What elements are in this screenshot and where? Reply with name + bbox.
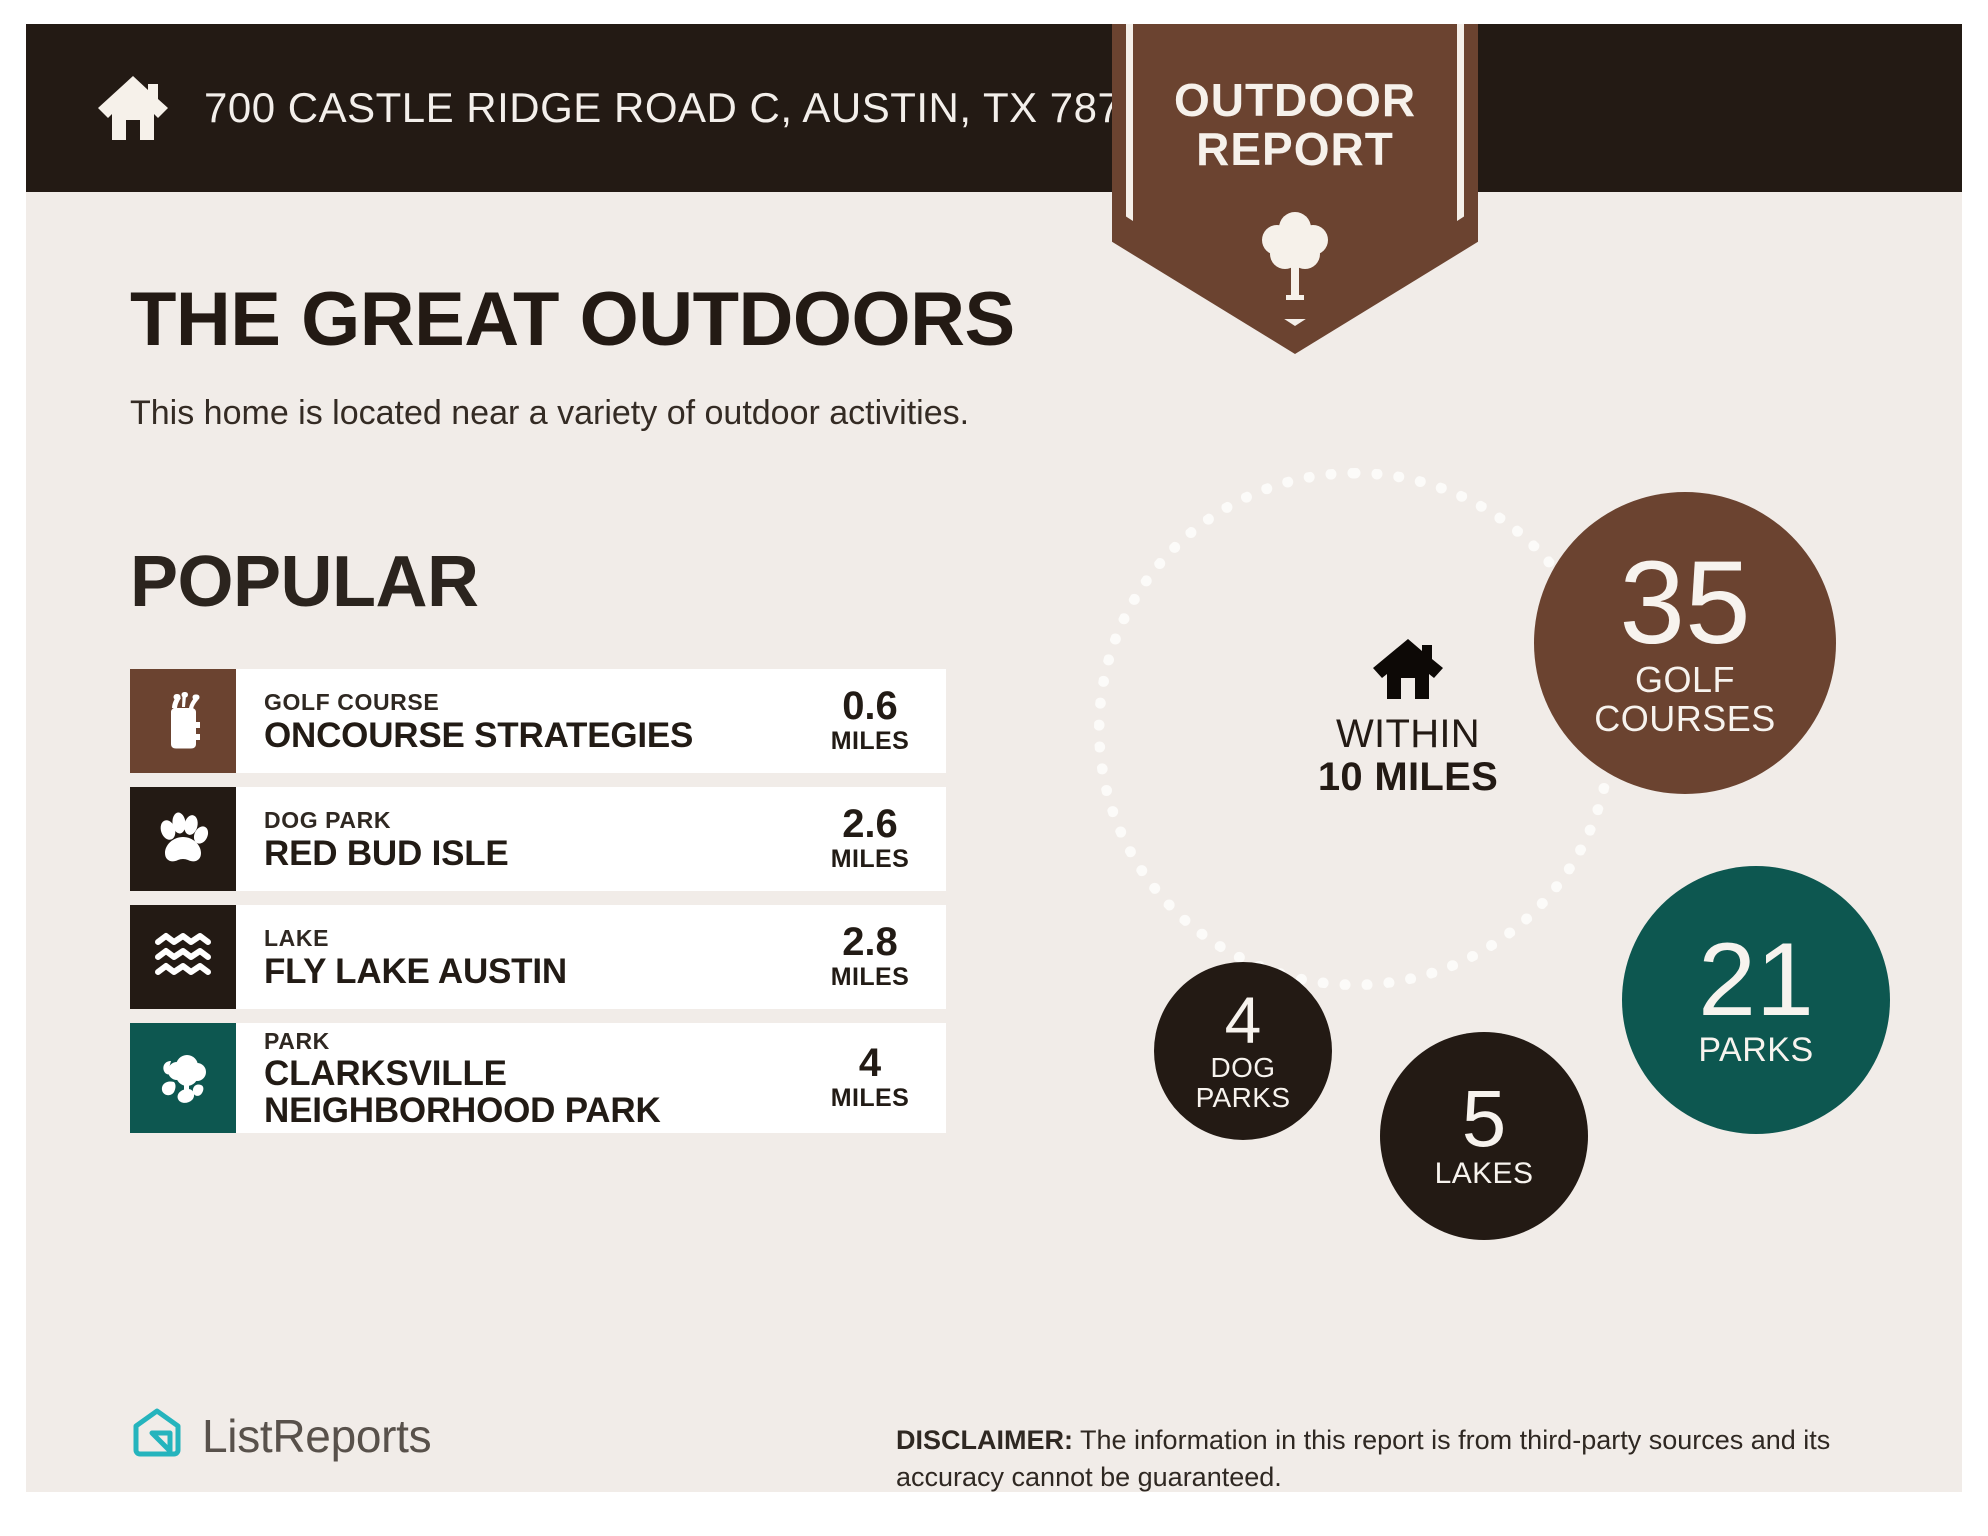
- paw-print-icon: [130, 787, 236, 891]
- outdoor-report-page: 700 CASTLE RIDGE ROAD C, AUSTIN, TX 7874…: [0, 0, 1988, 1536]
- stat-label-line1: DOG: [1211, 1053, 1276, 1083]
- list-item-text: DOG PARK RED BUD ISLE: [264, 806, 509, 872]
- stat-value: 4: [1225, 989, 1262, 1052]
- within-line1: WITHIN: [1278, 713, 1538, 756]
- stat-label-line2: PARKS: [1196, 1083, 1291, 1113]
- stat-label-line1: GOLF: [1635, 661, 1735, 700]
- section-title-popular: POPULAR: [130, 546, 479, 618]
- home-icon: [1278, 636, 1538, 707]
- stat-label-line2: COURSES: [1594, 700, 1776, 739]
- disclaimer: DISCLAIMER: The information in this repo…: [896, 1422, 1916, 1492]
- list-item-category: LAKE: [264, 924, 567, 953]
- stat-label-line1: LAKES: [1435, 1158, 1534, 1190]
- page-title: THE GREAT OUTDOORS: [130, 282, 1015, 358]
- distance-value: 2.8: [818, 922, 922, 963]
- distance-value: 2.6: [818, 804, 922, 845]
- list-item[interactable]: PARK CLARKSVILLE NEIGHBORHOOD PARK 4 MIL…: [130, 1023, 946, 1133]
- list-item-text: LAKE FLY LAKE AUSTIN: [264, 924, 567, 990]
- popular-list: GOLF COURSE ONCOURSE STRATEGIES 0.6 MILE…: [130, 669, 946, 1147]
- list-item-category: DOG PARK: [264, 806, 509, 835]
- golf-bag-icon: [130, 669, 236, 773]
- list-item-body: DOG PARK RED BUD ISLE 2.6 MILES: [236, 787, 946, 891]
- property-address: 700 CASTLE RIDGE ROAD C, AUSTIN, TX 7874…: [204, 84, 1169, 132]
- distance-value: 4: [818, 1043, 922, 1084]
- report-card: 700 CASTLE RIDGE ROAD C, AUSTIN, TX 7874…: [26, 24, 1962, 1492]
- list-item-body: LAKE FLY LAKE AUSTIN 2.8 MILES: [236, 905, 946, 1009]
- badge-title: OUTDOOR REPORT: [1112, 76, 1478, 174]
- list-item-text: GOLF COURSE ONCOURSE STRATEGIES: [264, 688, 693, 754]
- distance-value: 0.6: [818, 686, 922, 727]
- stat-lakes: 5 LAKES: [1380, 1032, 1588, 1240]
- list-item-distance: 2.6 MILES: [818, 804, 922, 874]
- list-item-name: RED BUD ISLE: [264, 835, 509, 872]
- distance-unit: MILES: [818, 845, 922, 874]
- list-item-name: FLY LAKE AUSTIN: [264, 953, 567, 990]
- tree-icon: [1255, 206, 1335, 307]
- list-item[interactable]: DOG PARK RED BUD ISLE 2.6 MILES: [130, 787, 946, 891]
- park-tree-icon: [130, 1023, 236, 1133]
- distance-unit: MILES: [818, 727, 922, 756]
- stat-parks: 21 PARKS: [1622, 866, 1890, 1134]
- stat-golf-courses: 35 GOLF COURSES: [1534, 492, 1836, 794]
- badge-title-line2: REPORT: [1112, 125, 1478, 174]
- header-bar: 700 CASTLE RIDGE ROAD C, AUSTIN, TX 7874…: [26, 24, 1962, 192]
- waves-icon: [130, 905, 236, 1009]
- distance-unit: MILES: [818, 963, 922, 992]
- amenities-diagram: 35 GOLF COURSES 21 PARKS 4 DOG PARKS 5 L…: [1046, 424, 1946, 1064]
- outdoor-report-badge: OUTDOOR REPORT: [1112, 24, 1478, 354]
- home-icon: [94, 65, 172, 151]
- stat-dog-parks: 4 DOG PARKS: [1154, 962, 1332, 1140]
- list-item-distance: 4 MILES: [818, 1043, 922, 1113]
- list-item-name: CLARKSVILLE NEIGHBORHOOD PARK: [264, 1055, 784, 1129]
- badge-title-line1: OUTDOOR: [1112, 76, 1478, 125]
- list-item-category: GOLF COURSE: [264, 688, 693, 717]
- list-item-body: PARK CLARKSVILLE NEIGHBORHOOD PARK 4 MIL…: [236, 1023, 946, 1133]
- list-item[interactable]: GOLF COURSE ONCOURSE STRATEGIES 0.6 MILE…: [130, 669, 946, 773]
- stat-label-line1: PARKS: [1698, 1032, 1813, 1069]
- list-item-body: GOLF COURSE ONCOURSE STRATEGIES 0.6 MILE…: [236, 669, 946, 773]
- list-item-distance: 2.8 MILES: [818, 922, 922, 992]
- stat-value: 21: [1698, 931, 1814, 1030]
- stat-value: 5: [1462, 1081, 1507, 1157]
- distance-unit: MILES: [818, 1084, 922, 1113]
- within-radius-note: WITHIN 10 MILES: [1278, 636, 1538, 799]
- list-item-category: PARK: [264, 1027, 784, 1056]
- within-line2: 10 MILES: [1278, 756, 1538, 799]
- listreports-wordmark: ListReports: [202, 1409, 431, 1463]
- listreports-house-icon: [130, 1406, 184, 1465]
- list-item-distance: 0.6 MILES: [818, 686, 922, 756]
- disclaimer-label: DISCLAIMER:: [896, 1425, 1073, 1455]
- list-item-name: ONCOURSE STRATEGIES: [264, 717, 693, 754]
- page-subtitle: This home is located near a variety of o…: [130, 394, 969, 433]
- stat-value: 35: [1619, 547, 1750, 659]
- list-item-text: PARK CLARKSVILLE NEIGHBORHOOD PARK: [264, 1027, 784, 1130]
- list-item[interactable]: LAKE FLY LAKE AUSTIN 2.8 MILES: [130, 905, 946, 1009]
- listreports-logo[interactable]: ListReports: [130, 1406, 431, 1465]
